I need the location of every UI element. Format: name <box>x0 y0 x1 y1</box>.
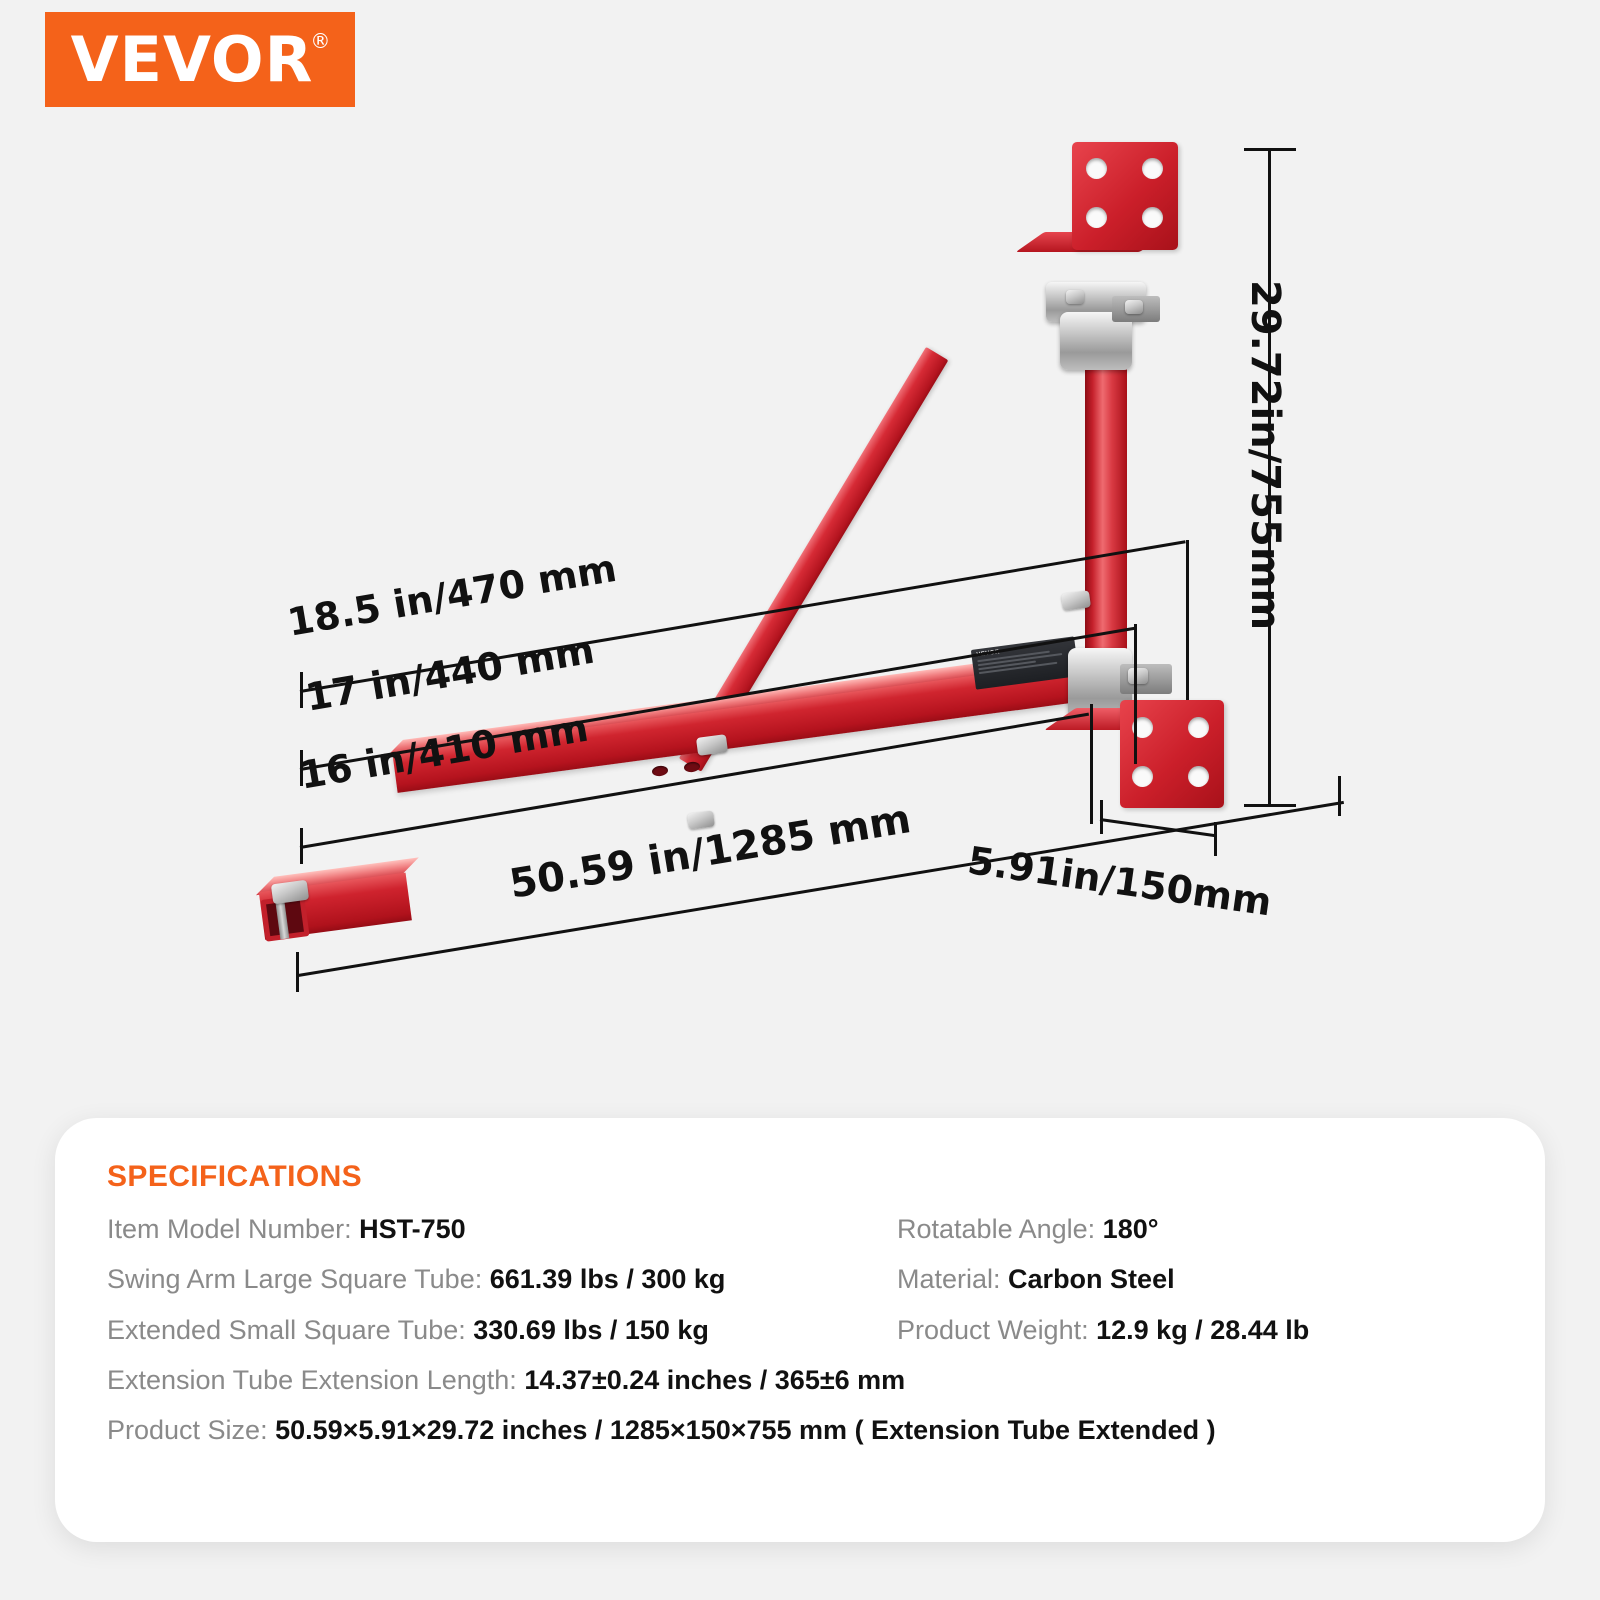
spec-value: 14.37±0.24 inches / 365±6 mm <box>524 1365 905 1395</box>
adjustment-hole-icon <box>651 765 668 777</box>
spec-key: Material: <box>897 1264 1001 1294</box>
spec-item-extended-tube-capacity: Extended Small Square Tube: 330.69 lbs /… <box>107 1311 897 1349</box>
spec-value: Carbon Steel <box>1008 1264 1175 1294</box>
joint-lower-bolt-icon <box>687 810 715 829</box>
spec-value: 12.9 kg / 28.44 lb <box>1096 1315 1309 1345</box>
clamp-bolt-icon <box>1125 300 1143 314</box>
bolt-hole-icon <box>1132 766 1153 787</box>
dim-470-tick-right <box>1186 540 1189 700</box>
specifications-card: SPECIFICATIONS Item Model Number: HST-75… <box>55 1118 1545 1542</box>
spec-row-4: Extension Tube Extension Length: 14.37±0… <box>107 1361 1545 1399</box>
dim-length-tick-right <box>1338 776 1341 816</box>
dim-length-tick-left <box>296 952 299 992</box>
spec-key: Rotatable Angle: <box>897 1214 1095 1244</box>
spec-item-rotatable-angle: Rotatable Angle: 180° <box>897 1210 1159 1248</box>
bolt-hole-icon <box>1142 158 1163 179</box>
bolt-hole-icon <box>1188 766 1209 787</box>
dim-label-470: 18.5 in/470 mm <box>284 546 619 645</box>
spec-row-5: Product Size: 50.59×5.91×29.72 inches / … <box>107 1411 1545 1449</box>
spec-key: Item Model Number: <box>107 1214 352 1244</box>
spec-row-3: Extended Small Square Tube: 330.69 lbs /… <box>107 1311 1545 1349</box>
dim-depth-tick-left <box>1100 800 1103 834</box>
dim-label-height: 29.72in/755mm <box>1242 280 1288 630</box>
dim-label-440: 17 in/440 mm <box>302 628 597 720</box>
spec-item-extension-length: Extension Tube Extension Length: 14.37±0… <box>107 1361 905 1399</box>
spec-value: HST-750 <box>359 1214 466 1244</box>
lower-clamp-bolt-icon <box>1128 668 1148 684</box>
specifications-title: SPECIFICATIONS <box>107 1160 1545 1194</box>
dim-depth-tick-right <box>1214 822 1217 856</box>
spec-item-product-size: Product Size: 50.59×5.91×29.72 inches / … <box>107 1411 1216 1449</box>
spec-key: Extension Tube Extension Length: <box>107 1365 517 1395</box>
spec-row-2: Swing Arm Large Square Tube: 661.39 lbs … <box>107 1260 1545 1298</box>
spec-item-material: Material: Carbon Steel <box>897 1260 1175 1298</box>
bolt-hole-icon <box>1086 207 1107 228</box>
bolt-hole-icon <box>1086 158 1107 179</box>
spec-value: 180° <box>1103 1214 1159 1244</box>
spec-key: Extended Small Square Tube: <box>107 1315 466 1345</box>
upper-wall-bracket-plate <box>1072 142 1178 250</box>
spec-key: Product Weight: <box>897 1315 1089 1345</box>
dim-410-tick-right <box>1090 704 1093 824</box>
spec-key: Swing Arm Large Square Tube: <box>107 1264 482 1294</box>
spec-item-swing-arm-capacity: Swing Arm Large Square Tube: 661.39 lbs … <box>107 1260 897 1298</box>
joint-hex-bolt-icon <box>696 734 728 756</box>
dim-label-depth: 5.91in/150mm <box>965 838 1274 924</box>
dim-height-tick-bottom <box>1244 804 1296 807</box>
dim-440-tick-right <box>1134 624 1137 764</box>
spec-item-product-weight: Product Weight: 12.9 kg / 28.44 lb <box>897 1311 1309 1349</box>
product-illustration: VEVOR 18.5 in/470 mm 17 in/440 mm 16 in/… <box>0 0 1600 1080</box>
spec-item-model-number: Item Model Number: HST-750 <box>107 1210 897 1248</box>
spec-key: Product Size: <box>107 1415 268 1445</box>
spec-value: 661.39 lbs / 300 kg <box>490 1264 726 1294</box>
spec-value: 50.59×5.91×29.72 inches / 1285×150×755 m… <box>275 1415 1216 1445</box>
spec-value: 330.69 lbs / 150 kg <box>473 1315 709 1345</box>
adjustment-hole-icon <box>683 761 700 773</box>
clamp-bolt-icon <box>1066 290 1084 304</box>
spec-row-1: Item Model Number: HST-750 Rotatable Ang… <box>107 1210 1545 1248</box>
bolt-hole-icon <box>1188 717 1209 738</box>
bolt-hole-icon <box>1142 207 1163 228</box>
